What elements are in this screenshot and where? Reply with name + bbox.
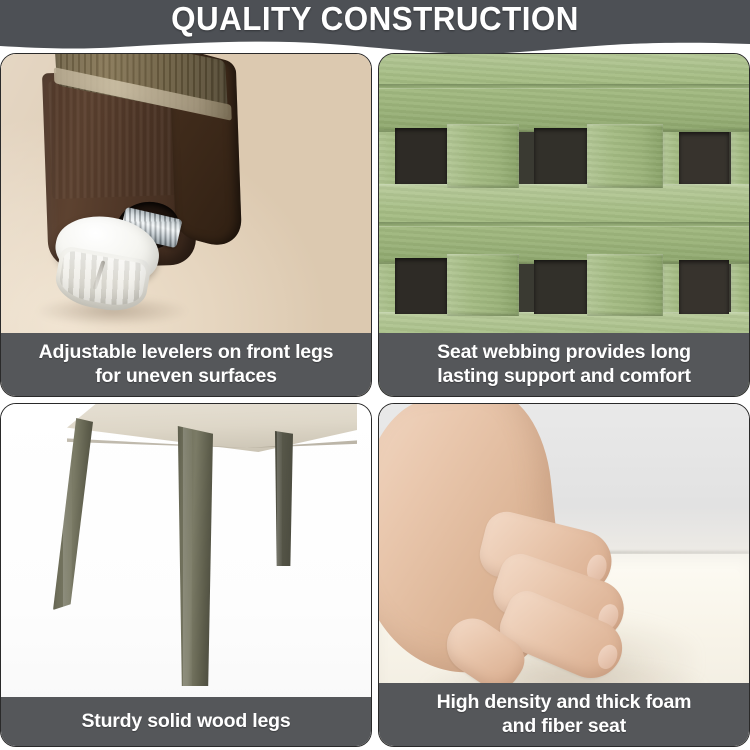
webbing-gap-square [534,260,587,314]
page-title: QUALITY CONSTRUCTION [19,1,732,37]
webbing-gap-square [395,128,447,184]
panel-caption: Sturdy solid wood legs [1,697,371,746]
panel-solid-wood-legs: Sturdy solid wood legs [0,403,372,747]
panel-caption: High density and thick foam and fiber se… [379,683,749,746]
caption-line-2: for uneven surfaces [7,364,365,388]
panel-high-density-foam: High density and thick foam and fiber se… [378,403,750,747]
feature-grid: Adjustable levelers on front legs for un… [0,53,750,750]
webbing-weave-overlap [447,124,519,188]
caption-line-1: High density and thick foam [385,690,743,714]
panel-seat-webbing: Seat webbing provides long lasting suppo… [378,53,750,397]
webbing-weave-overlap [447,254,519,316]
webbing-weave-overlap [587,124,663,188]
header-banner: QUALITY CONSTRUCTION [0,0,750,56]
caption-line-1: Adjustable levelers on front legs [7,340,365,364]
wood-legs-photo [1,404,371,746]
webbing-seam [379,222,749,226]
pressing-hand [379,404,668,725]
webbing-gap-square [395,258,447,314]
webbing-gap-square [534,128,587,184]
caption-line-1: Seat webbing provides long [385,340,743,364]
panel-caption: Seat webbing provides long lasting suppo… [379,333,749,396]
webbing-weave-overlap [587,254,663,316]
white-leveler-foot [46,209,165,320]
panel-adjustable-levelers: Adjustable levelers on front legs for un… [0,53,372,397]
panel-caption: Adjustable levelers on front legs for un… [1,333,371,396]
caption-line-2: lasting support and comfort [385,364,743,388]
caption-line-2: and fiber seat [385,714,743,738]
webbing-seam [379,84,749,88]
webbing-gap-square [679,132,729,184]
webbing-gap-square [679,260,729,314]
caption-line-1: Sturdy solid wood legs [7,709,365,733]
webbing-strap-horizontal [379,54,749,132]
